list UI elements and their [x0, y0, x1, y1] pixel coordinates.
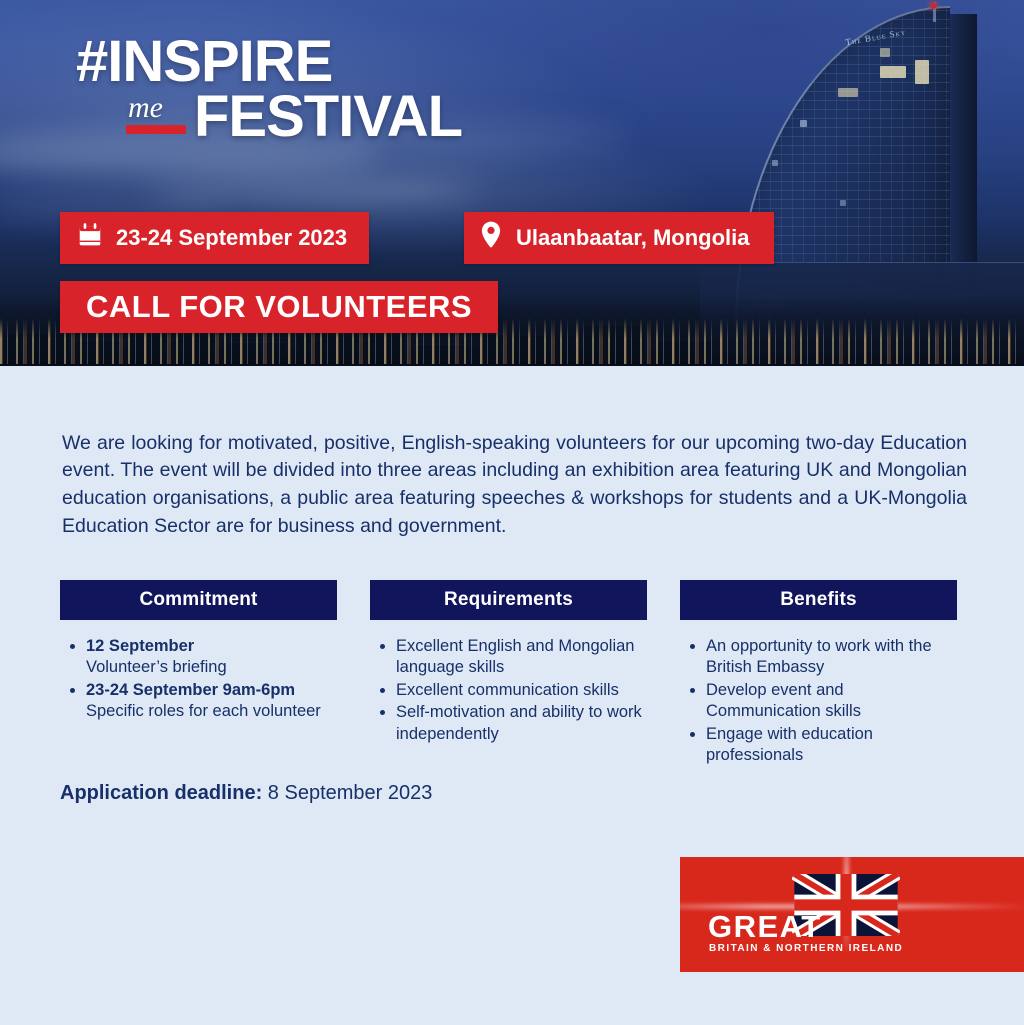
application-deadline: Application deadline: 8 September 2023 [60, 782, 432, 805]
poster: The Blue Sky #INSPIRE me FESTIVAL [0, 0, 1024, 1025]
great-britain-logo: GREAT BRITAIN & NORTHERN IRELAND [680, 857, 1024, 972]
event-date-badge: 23-24 September 2023 [60, 212, 369, 264]
list-item: Excellent communication skills [396, 680, 647, 701]
hero-banner: The Blue Sky #INSPIRE me FESTIVAL [0, 0, 1024, 366]
tower-lit-window [838, 88, 858, 97]
logo-second-row: me FESTIVAL [76, 89, 506, 151]
info-columns: Commitment 12 September Volunteer’s brie… [60, 580, 966, 768]
benefits-list: An opportunity to work with the British … [680, 636, 957, 767]
list-item-sub: Volunteer’s briefing [86, 657, 337, 678]
column-benefits: Benefits An opportunity to work with the… [680, 580, 957, 768]
tower-lit-window [880, 48, 890, 57]
list-item-sub: Specific roles for each volunteer [86, 701, 337, 722]
call-for-volunteers-banner: CALL FOR VOLUNTEERS [60, 281, 498, 333]
list-item: 12 September Volunteer’s briefing [86, 636, 337, 679]
list-item: Develop event and Communication skills [706, 680, 957, 723]
logo-festival-word: FESTIVAL [194, 83, 462, 150]
logo-hash-inspire: #INSPIRE [76, 34, 506, 89]
map-pin-icon [478, 220, 504, 256]
event-location-label: Ulaanbaatar, Mongolia [516, 225, 750, 251]
list-item: Engage with education professionals [706, 724, 957, 767]
logo-red-rule [126, 125, 186, 134]
tower-beacon-light [930, 2, 937, 9]
list-item-strong: 23-24 September 9am-6pm [86, 680, 337, 701]
inspire-me-festival-logo: #INSPIRE me FESTIVAL [76, 34, 506, 151]
column-title-requirements: Requirements [370, 580, 647, 620]
great-subtitle: BRITAIN & NORTHERN IRELAND [709, 943, 903, 954]
event-location-badge: Ulaanbaatar, Mongolia [464, 212, 774, 264]
list-item: Self-motivation and ability to work inde… [396, 702, 647, 745]
calendar-icon [76, 221, 104, 255]
list-item: 23-24 September 9am-6pm Specific roles f… [86, 680, 337, 723]
tower-lit-window [880, 66, 906, 78]
tower-lit-window [800, 120, 807, 127]
tower-lit-window [772, 160, 778, 166]
list-item-strong: 12 September [86, 636, 337, 657]
application-deadline-value: 8 September 2023 [262, 782, 432, 804]
column-requirements: Requirements Excellent English and Mongo… [370, 580, 647, 768]
list-item: Excellent English and Mongolian language… [396, 636, 647, 679]
column-title-commitment: Commitment [60, 580, 337, 620]
intro-paragraph: We are looking for motivated, positive, … [62, 430, 967, 541]
tower-lit-window [915, 60, 929, 84]
commitment-list: 12 September Volunteer’s briefing 23-24 … [60, 636, 337, 723]
requirements-list: Excellent English and Mongolian language… [370, 636, 647, 745]
application-deadline-label: Application deadline: [60, 782, 262, 804]
column-title-benefits: Benefits [680, 580, 957, 620]
tower-lit-window [840, 200, 846, 206]
list-item: An opportunity to work with the British … [706, 636, 957, 679]
logo-me-script: me [128, 91, 163, 125]
great-wordmark: GREAT [708, 909, 822, 945]
column-commitment: Commitment 12 September Volunteer’s brie… [60, 580, 337, 768]
event-date-label: 23-24 September 2023 [116, 225, 347, 251]
